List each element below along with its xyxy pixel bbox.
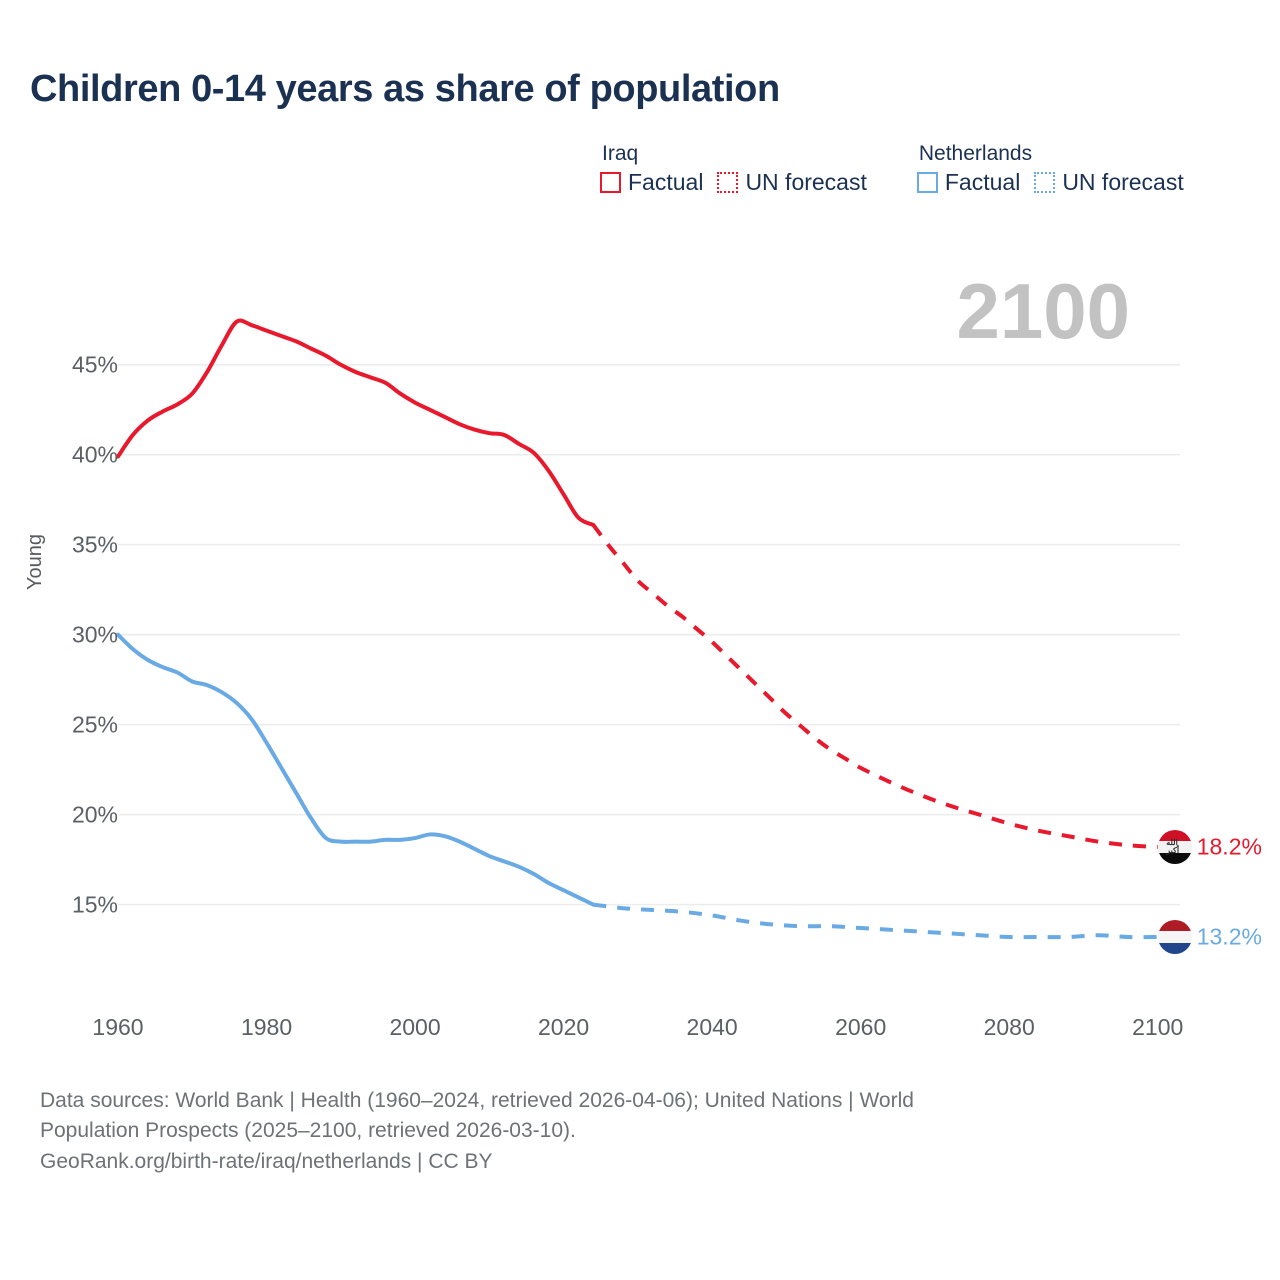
chart-container: Children 0-14 years as share of populati… [0,0,1280,1280]
y-axis-tick-label: 25% [72,711,118,738]
x-axis-tick-label: 1980 [241,1014,292,1041]
chart-footer: Data sources: World Bank | Health (1960–… [40,1086,1220,1177]
footer-line-1: Data sources: World Bank | Health (1960–… [40,1086,1220,1116]
netherlands-flag-icon [1158,920,1192,954]
x-axis-tick-label: 2040 [687,1014,738,1041]
y-axis-tick-label: 45% [72,351,118,378]
x-axis-tick-label: 2060 [835,1014,886,1041]
footer-line-2: Population Prospects (2025–2100, retriev… [40,1116,1220,1146]
y-axis-tick-label: 30% [72,621,118,648]
x-axis-tick-label: 2000 [389,1014,440,1041]
y-axis-tick-label: 15% [72,891,118,918]
footer-line-3[interactable]: GeoRank.org/birth-rate/iraq/netherlands … [40,1147,1220,1177]
y-axis-tick-label: 40% [72,441,118,468]
iraq-flag-icon: الله أكبر [1158,830,1192,864]
x-axis-tick-label: 2100 [1132,1014,1183,1041]
x-axis-tick-label: 1960 [92,1014,143,1041]
y-axis-tick-label: 35% [72,531,118,558]
x-axis-tick-label: 2020 [538,1014,589,1041]
y-axis-tick-label: 20% [72,801,118,828]
end-value-label-netherlands: 13.2% [1197,924,1262,951]
end-value-label-iraq: 18.2% [1197,834,1262,861]
x-axis-tick-label: 2080 [984,1014,1035,1041]
